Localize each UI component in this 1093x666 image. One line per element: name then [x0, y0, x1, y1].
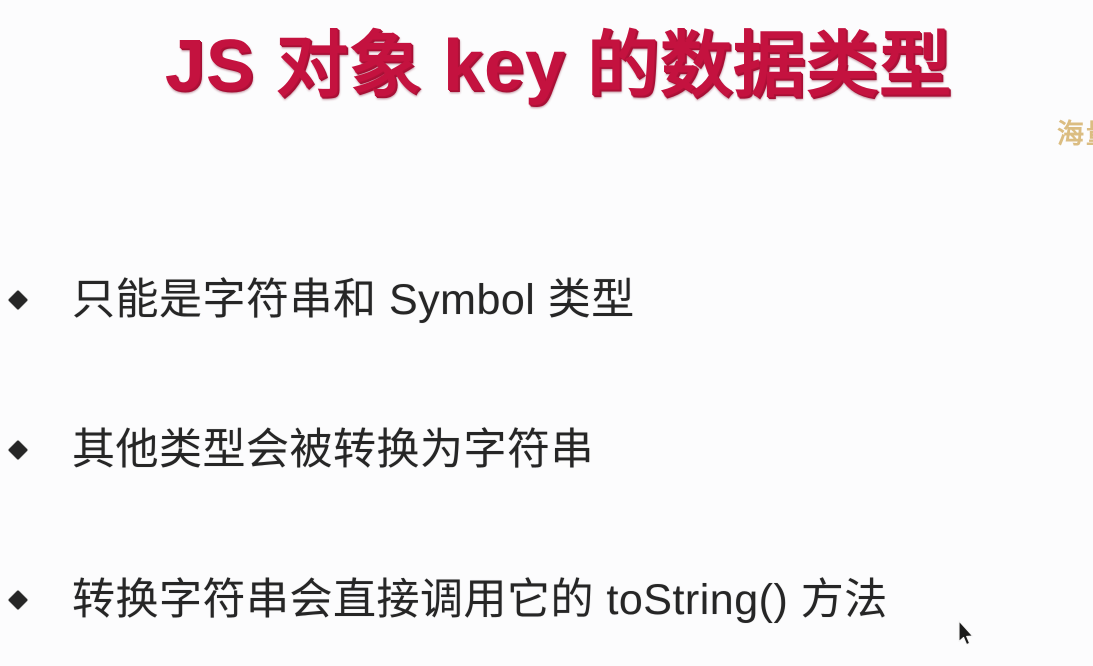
list-item-label: 转换字符串会直接调用它的 toString() 方法: [72, 574, 1093, 626]
diamond-bullet-icon: [8, 440, 28, 460]
page-title: JS 对象 key 的数据类型: [165, 18, 952, 114]
list-item-label: 只能是字符串和 Symbol 类型: [72, 274, 1093, 326]
list-item: 其他类型会被转换为字符串: [0, 408, 1093, 492]
watermark-text: 海量: [1057, 112, 1093, 151]
bullet-list: 只能是字符串和 Symbol 类型 其他类型会被转换为字符串 转换字符串会直接调…: [0, 258, 1093, 666]
list-item: 只能是字符串和 Symbol 类型: [0, 258, 1093, 342]
list-item-label: 其他类型会被转换为字符串: [72, 424, 1093, 476]
presentation-slide: JS 对象 key 的数据类型 海量 只能是字符串和 Symbol 类型 其他类…: [0, 0, 1093, 666]
title-block: JS 对象 key 的数据类型: [0, 18, 1093, 114]
diamond-bullet-icon: [8, 290, 28, 310]
diamond-bullet-icon: [8, 590, 28, 610]
list-item: 转换字符串会直接调用它的 toString() 方法: [0, 558, 1093, 642]
